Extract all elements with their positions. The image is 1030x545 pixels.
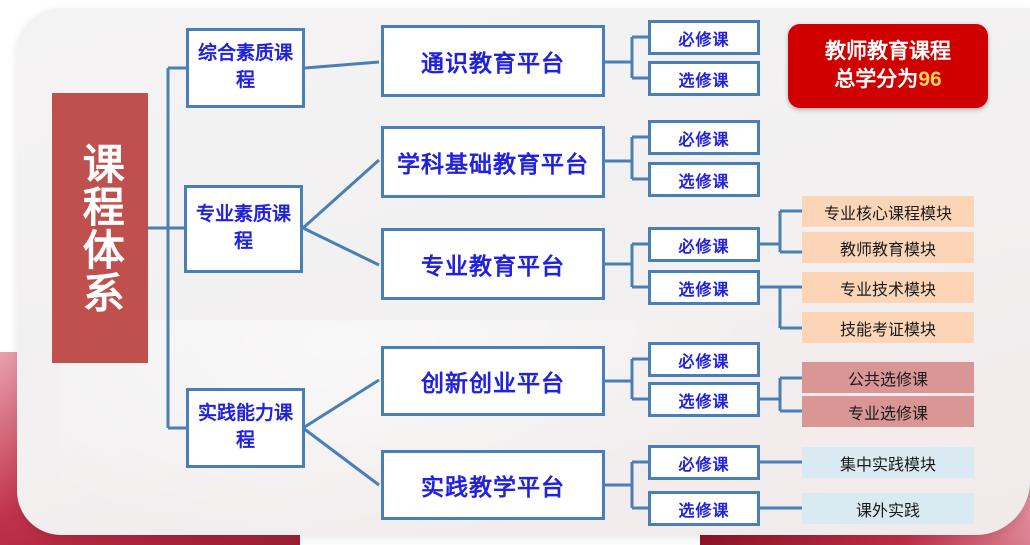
course-type-label: 必修课 — [678, 233, 729, 257]
course-type-node[interactable]: 必修课 — [648, 20, 760, 55]
platform-node-discipline-foundation[interactable]: 学科基础教育平台 — [381, 126, 605, 198]
module-node-concentrated-practice[interactable]: 集中实践模块 — [802, 447, 974, 478]
module-node-skill-certification[interactable]: 技能考证模块 — [802, 312, 974, 343]
module-node-core-courses[interactable]: 专业核心课程模块 — [802, 196, 974, 227]
module-node-professional-elective[interactable]: 专业选修课 — [802, 396, 974, 427]
platform-label: 专业教育平台 — [421, 247, 565, 281]
platform-label: 通识教育平台 — [421, 44, 565, 78]
course-type-label: 必修课 — [678, 451, 729, 475]
diagram-canvas: 课程体系 教师教育课程 总学分为96 综合素质课程 专业素质课程 实践能力课程 … — [0, 0, 1030, 545]
platform-label: 学科基础教育平台 — [397, 145, 589, 179]
course-type-node[interactable]: 选修课 — [648, 162, 760, 197]
platform-node-professional-education[interactable]: 专业教育平台 — [381, 228, 605, 300]
course-type-node[interactable]: 选修课 — [648, 382, 760, 417]
course-type-label: 选修课 — [678, 168, 729, 192]
course-type-label: 必修课 — [678, 348, 729, 372]
module-label: 专业核心课程模块 — [824, 200, 952, 224]
platform-node-practice-teaching[interactable]: 实践教学平台 — [381, 450, 605, 520]
module-label: 公共选修课 — [848, 366, 928, 390]
category-label: 实践能力课程 — [189, 401, 302, 455]
credit-badge-value: 96 — [918, 68, 941, 91]
module-label: 集中实践模块 — [840, 451, 936, 475]
category-node-practical[interactable]: 实践能力课程 — [186, 388, 305, 468]
category-node-professional[interactable]: 专业素质课程 — [184, 185, 303, 273]
credit-badge[interactable]: 教师教育课程 总学分为96 — [788, 24, 988, 108]
platform-node-general-education[interactable]: 通识教育平台 — [381, 25, 605, 97]
module-label: 专业选修课 — [848, 400, 928, 424]
module-node-public-elective[interactable]: 公共选修课 — [802, 362, 974, 393]
course-type-node[interactable]: 必修课 — [648, 342, 760, 377]
platform-label: 创新创业平台 — [421, 364, 565, 398]
module-node-professional-technology[interactable]: 专业技术模块 — [802, 272, 974, 303]
course-type-label: 必修课 — [678, 26, 729, 50]
module-label: 专业技术模块 — [840, 276, 936, 300]
course-type-node[interactable]: 选修课 — [648, 61, 760, 96]
credit-badge-line1: 教师教育课程 — [825, 38, 951, 66]
course-type-node[interactable]: 选修课 — [648, 491, 760, 526]
course-type-node[interactable]: 必修课 — [648, 445, 760, 480]
course-type-label: 选修课 — [678, 497, 729, 521]
credit-badge-line2: 总学分为96 — [834, 66, 941, 94]
module-node-extracurricular-practice[interactable]: 课外实践 — [802, 493, 974, 524]
course-type-label: 选修课 — [678, 276, 729, 300]
category-label: 专业素质课程 — [187, 202, 300, 256]
platform-node-innovation-entrepreneurship[interactable]: 创新创业平台 — [381, 346, 605, 416]
credit-badge-prefix: 总学分为 — [834, 68, 918, 91]
platform-label: 实践教学平台 — [421, 468, 565, 502]
module-node-teacher-education[interactable]: 教师教育模块 — [802, 232, 974, 263]
course-type-node[interactable]: 必修课 — [648, 227, 760, 262]
course-type-label: 选修课 — [678, 67, 729, 91]
category-label: 综合素质课程 — [189, 41, 302, 95]
module-label: 技能考证模块 — [840, 316, 936, 340]
root-node[interactable]: 课程体系 — [52, 93, 148, 363]
course-type-node[interactable]: 必修课 — [648, 120, 760, 155]
course-type-node[interactable]: 选修课 — [648, 270, 760, 305]
module-label: 教师教育模块 — [840, 236, 936, 260]
course-type-label: 必修课 — [678, 126, 729, 150]
course-type-label: 选修课 — [678, 388, 729, 412]
module-label: 课外实践 — [856, 497, 920, 521]
root-label: 课程体系 — [78, 142, 123, 314]
category-node-comprehensive[interactable]: 综合素质课程 — [186, 28, 305, 108]
